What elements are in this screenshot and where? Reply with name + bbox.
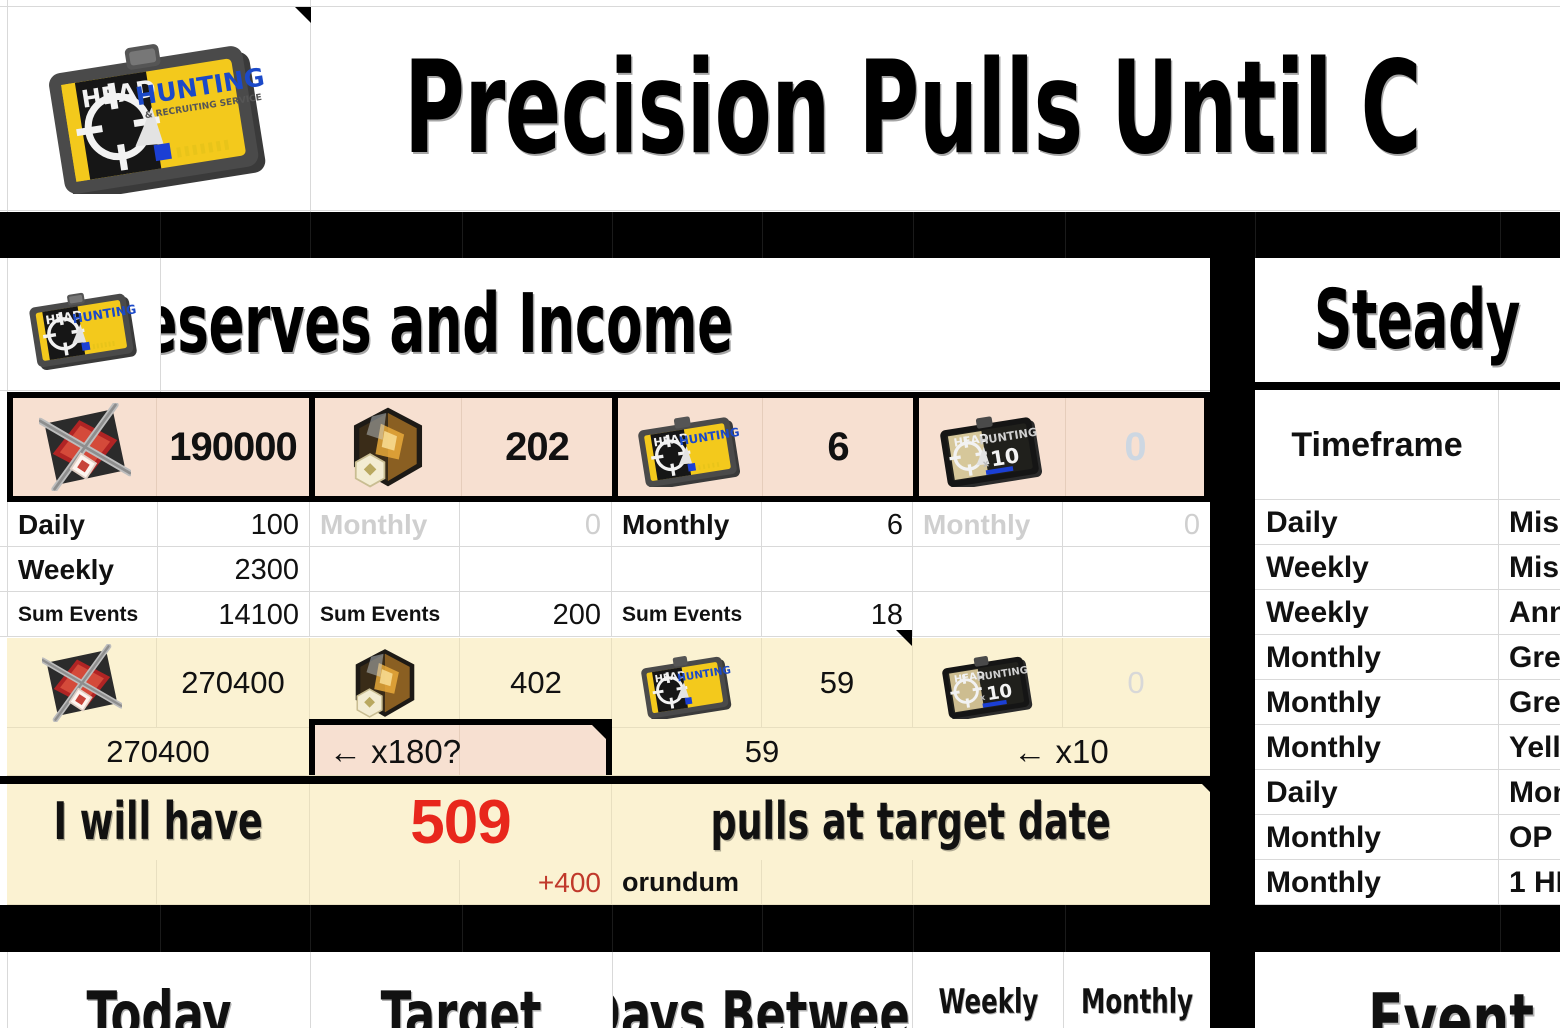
bonus-value[interactable]: +400	[460, 860, 610, 905]
right-section-title-cell: Steady	[1256, 259, 1560, 382]
source-cell[interactable]: Miss	[1499, 545, 1560, 590]
source-text: Miss	[1509, 506, 1560, 540]
bottom-label-text: Weekly	[938, 982, 1038, 1022]
reserve-value-orundum[interactable]: 190000	[157, 398, 309, 496]
total-icon-originite[interactable]	[310, 638, 460, 728]
headhunting-permit-icon: HEAD HUNTING	[635, 647, 739, 719]
timeframe-cell[interactable]: Monthly	[1256, 725, 1498, 770]
timeframe-cell[interactable]: Monthly	[1256, 680, 1498, 725]
source-text: Yello	[1509, 731, 1560, 765]
income-empty-cell[interactable]	[460, 548, 610, 592]
income-label-orundum-weekly[interactable]: Weekly	[8, 548, 158, 592]
source-cell[interactable]: Yello	[1499, 725, 1560, 770]
bottom-label-weekly[interactable]: Weekly	[913, 952, 1063, 1028]
income-label-permit-sumevents[interactable]: Sum Events	[612, 593, 762, 637]
income-label-originite-monthly[interactable]: Monthly	[310, 503, 460, 547]
timeframe-text: Monthly	[1266, 821, 1381, 855]
timeframe-cell[interactable]: Monthly	[1256, 815, 1498, 860]
timeframe-text: Monthly	[1266, 641, 1381, 675]
income-value-permit10-monthly[interactable]: 0	[1063, 503, 1209, 547]
black-separator-row-top	[0, 212, 1560, 258]
conversion-permit10-note[interactable]: ← x10	[913, 728, 1209, 776]
bonus-unit[interactable]: orundum	[612, 860, 762, 905]
income-label-orundum-sumevents[interactable]: Sum Events	[8, 593, 158, 637]
income-value-orundum-sumevents[interactable]: 14100	[158, 593, 308, 637]
total-icon-permit10[interactable]: HEAD HUNTING 10 x	[913, 638, 1063, 728]
income-value-orundum-weekly[interactable]: 2300	[158, 548, 308, 592]
source-text: Gree	[1509, 641, 1560, 675]
bottom-label-monthly[interactable]: Monthly	[1064, 952, 1210, 1028]
income-label-text: Sum Events	[18, 603, 138, 627]
total-value-permit[interactable]: 59	[762, 638, 912, 728]
income-empty-cell[interactable]	[612, 548, 762, 592]
income-label-text: Monthly	[320, 509, 427, 541]
income-label-text: Weekly	[18, 554, 114, 586]
timeframe-cell[interactable]: Weekly	[1256, 590, 1498, 635]
result-pulls-text: 509	[410, 787, 510, 858]
total-value-text: 402	[510, 665, 562, 701]
total-value-text: 0	[1127, 665, 1144, 701]
source-cell[interactable]: Mon	[1499, 770, 1560, 815]
conversion-permit10-note-text: ← x10	[1013, 733, 1108, 771]
events-title-cell[interactable]: Event	[1256, 952, 1560, 1028]
income-empty-cell[interactable]	[1063, 548, 1209, 592]
result-suffix[interactable]: pulls at target date	[612, 784, 1209, 860]
income-label-permit10-monthly[interactable]: Monthly	[913, 503, 1063, 547]
timeframe-cell[interactable]: Daily	[1256, 770, 1498, 815]
reserve-value-text: 190000	[169, 425, 296, 470]
headhunting-permit-icon: HEAD HUNTING	[631, 407, 749, 487]
timeframe-text: Daily	[1266, 776, 1338, 810]
source-text: Gree	[1509, 686, 1560, 720]
income-value-text: 200	[553, 599, 601, 632]
income-empty-cell[interactable]	[913, 548, 1063, 592]
income-value-text: 0	[585, 509, 601, 542]
total-value-permit10[interactable]: 0	[1063, 638, 1209, 728]
source-cell[interactable]: 1 HH	[1499, 860, 1560, 905]
income-value-permit-sumevents[interactable]: 18	[762, 593, 912, 637]
timeframe-text: Monthly	[1266, 866, 1381, 900]
income-value-orundum-daily[interactable]: 100	[158, 503, 308, 547]
reserve-icon-permit[interactable]: HEAD HUNTING	[618, 398, 762, 496]
source-text: Ann	[1509, 596, 1560, 630]
source-text: OP f	[1509, 821, 1560, 855]
black-separator-row-bottom	[0, 905, 1210, 952]
originite-prime-icon	[345, 403, 431, 491]
timeframe-text: Weekly	[1266, 551, 1369, 585]
income-empty-cell[interactable]	[762, 548, 912, 592]
income-value-text: 100	[251, 509, 299, 542]
conversion-originite-note-text: ← x180?	[329, 733, 461, 771]
source-cell[interactable]: Gree	[1499, 635, 1560, 680]
source-column-header[interactable]	[1499, 390, 1560, 500]
income-value-text: 18	[871, 599, 903, 632]
bottom-label-days-between[interactable]: Days Between	[613, 952, 912, 1028]
bonus-unit-text: orundum	[622, 867, 739, 898]
income-label-text: Sum Events	[622, 603, 742, 627]
income-value-originite-monthly[interactable]: 0	[460, 503, 610, 547]
source-text: Miss	[1509, 551, 1560, 585]
reserve-icon-orundum[interactable]	[13, 398, 156, 496]
timeframe-text: Daily	[1266, 506, 1338, 540]
orundum-icon	[39, 403, 131, 491]
source-cell[interactable]: Ann	[1499, 590, 1560, 635]
bottom-label-text: Today	[86, 979, 231, 1028]
headhunting-permit-x10-icon: HEAD HUNTING 10 x	[933, 407, 1051, 487]
reserve-value-originite[interactable]: 202	[462, 398, 612, 496]
source-cell[interactable]: OP f	[1499, 815, 1560, 860]
reserve-value-text: 202	[505, 425, 569, 470]
reserve-value-text: 0	[1124, 425, 1145, 470]
page-title-cell: Precision Pulls Until C	[318, 7, 1560, 210]
bottom-label-text: Monthly	[1081, 982, 1193, 1022]
income-value-text: 0	[1184, 509, 1200, 542]
bottom-label-today[interactable]: Today	[8, 952, 310, 1028]
headhunting-permit-x10-icon: HEAD HUNTING 10 x	[936, 647, 1040, 719]
orundum-icon	[42, 644, 122, 722]
reserve-value-text: 6	[827, 425, 848, 470]
page-title: Precision Pulls Until C	[404, 45, 1421, 173]
total-icon-permit[interactable]: HEAD HUNTING	[612, 638, 762, 728]
result-suffix-text: pulls at target date	[710, 792, 1110, 852]
income-value-text: 2300	[234, 554, 299, 587]
left-section-logo-cell: HEAD HUNTING	[8, 259, 160, 390]
total-value-orundum[interactable]: 270400	[157, 638, 309, 728]
right-section-title: Steady	[1314, 280, 1520, 362]
events-title-text: Event	[1368, 978, 1534, 1028]
timeframe-cell[interactable]: Monthly	[1256, 635, 1498, 680]
income-empty-cell[interactable]	[310, 548, 460, 592]
fill-handle-notch[interactable]	[591, 724, 607, 740]
conversion-orundum-total[interactable]: 270400	[8, 728, 308, 776]
header-logo-cell: HEAD HUNTING & RECRUITING SERVICE	[8, 7, 310, 210]
income-label-text: Monthly	[622, 509, 729, 541]
reserve-icon-permit10[interactable]: HEAD HUNTING 10 x	[919, 398, 1065, 496]
source-text: Mon	[1509, 776, 1560, 810]
timeframe-header-text: Timeframe	[1291, 426, 1462, 465]
income-value-originite-sumevents[interactable]: 200	[460, 593, 610, 637]
spreadsheet-canvas: HEAD HUNTING & RECRUITING SERVICE Precis…	[0, 0, 1560, 1028]
timeframe-cell[interactable]: Daily	[1256, 500, 1498, 545]
left-section-title-cell: Reserves and Income	[161, 259, 1209, 390]
timeframe-cell[interactable]: Weekly	[1256, 545, 1498, 590]
conversion-orundum-text: 270400	[106, 734, 209, 770]
income-label-text: Sum Events	[320, 603, 440, 627]
bottom-label-text: Target	[381, 979, 542, 1028]
result-prefix[interactable]: I will have	[8, 784, 308, 860]
income-empty-cell[interactable]	[1063, 593, 1209, 637]
total-icon-orundum[interactable]	[8, 638, 156, 728]
source-cell[interactable]: Miss	[1499, 500, 1560, 545]
income-label-originite-sumevents[interactable]: Sum Events	[310, 593, 460, 637]
reserve-value-permit[interactable]: 6	[763, 398, 913, 496]
income-label-orundum-daily[interactable]: Daily	[8, 503, 158, 547]
svg-text:10: 10	[989, 443, 1021, 471]
timeframe-column-header[interactable]: Timeframe	[1256, 390, 1498, 500]
income-label-permit-monthly[interactable]: Monthly	[612, 503, 762, 547]
originite-prime-icon	[348, 644, 422, 722]
total-value-text: 59	[820, 665, 854, 701]
income-empty-cell[interactable]	[913, 593, 1063, 637]
conversion-permit-text: 59	[745, 734, 779, 770]
source-cell[interactable]: Gree	[1499, 680, 1560, 725]
income-value-text: 6	[887, 509, 903, 542]
panel-divider	[1210, 212, 1255, 930]
left-section-title: Reserves and Income	[161, 284, 733, 366]
bottom-label-text: Days Between	[613, 979, 912, 1028]
income-label-text: Monthly	[923, 509, 1030, 541]
timeframe-text: Monthly	[1266, 686, 1381, 720]
result-pulls-value[interactable]: 509	[309, 784, 612, 860]
income-value-permit-monthly[interactable]: 6	[762, 503, 912, 547]
timeframe-cell[interactable]: Monthly	[1256, 860, 1498, 905]
timeframe-text: Weekly	[1266, 596, 1369, 630]
reserve-value-permit10[interactable]: 0	[1066, 398, 1204, 496]
bottom-label-target[interactable]: Target	[311, 952, 612, 1028]
headhunting-permit-icon: HEAD HUNTING	[22, 279, 146, 371]
income-label-text: Daily	[18, 509, 85, 541]
bonus-value-text: +400	[538, 867, 601, 899]
conversion-permit-total[interactable]: 59	[612, 728, 912, 776]
headhunting-permit-icon: HEAD HUNTING & RECRUITING SERVICE	[34, 24, 284, 194]
result-prefix-text: I will have	[53, 792, 262, 852]
income-value-text: 14100	[218, 599, 299, 632]
reserve-icon-originite[interactable]	[315, 398, 461, 496]
total-value-originite[interactable]: 402	[460, 638, 612, 728]
source-text: 1 HH	[1509, 866, 1560, 900]
total-value-text: 270400	[181, 665, 284, 701]
timeframe-text: Monthly	[1266, 731, 1381, 765]
